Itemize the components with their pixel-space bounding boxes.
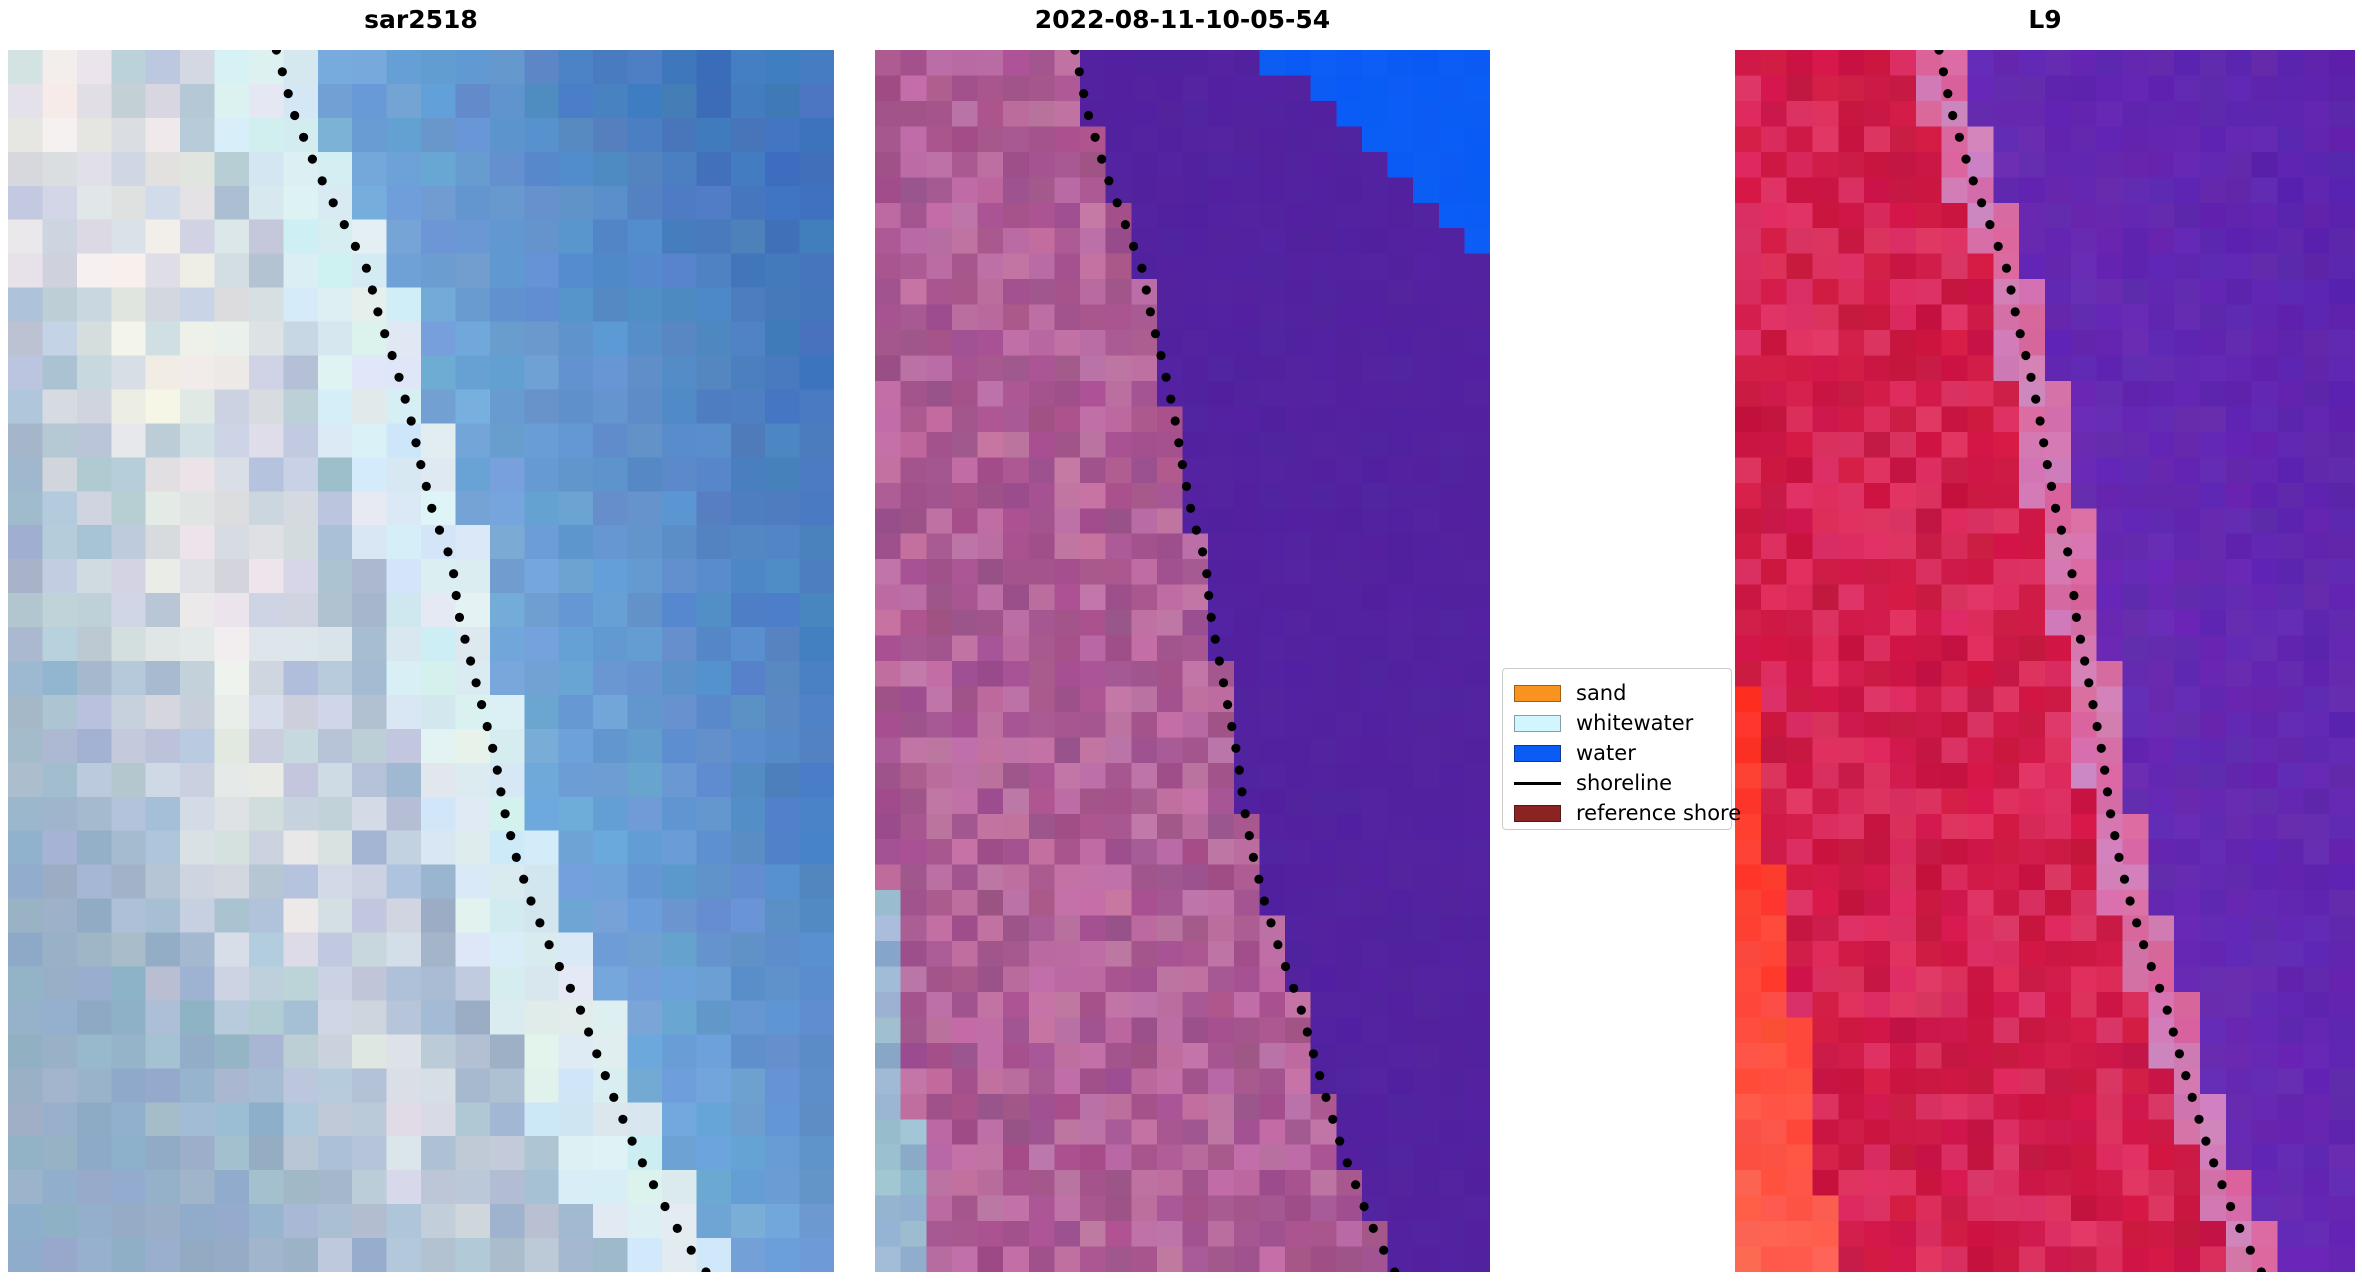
- whitewater-swatch: [1514, 715, 1561, 732]
- legend-label: water: [1576, 741, 1636, 765]
- sand-swatch: [1514, 685, 1561, 702]
- l9-raster-image: [1735, 50, 2355, 1272]
- panel-l9[interactable]: [1735, 50, 2355, 1272]
- reference-shore-swatch: [1514, 805, 1561, 822]
- legend-item-whitewater: whitewater: [1514, 708, 1721, 738]
- figure-canvas: sar2518 2022-08-11-10-05-54 L9 sandwhite…: [0, 0, 2362, 1283]
- panel-title-l9: L9: [1735, 0, 2355, 40]
- legend[interactable]: sandwhitewaterwatershorelinereference sh…: [1502, 668, 1732, 830]
- sar-raster-image: [8, 50, 834, 1272]
- legend-label: shoreline: [1576, 771, 1672, 795]
- legend-label: reference shore: [1576, 801, 1741, 825]
- water-swatch: [1514, 745, 1561, 762]
- legend-item-shoreline: shoreline: [1514, 768, 1721, 798]
- legend-label: sand: [1576, 681, 1626, 705]
- legend-item-reference-shore: reference shore: [1514, 798, 1721, 828]
- panel-title-sar: sar2518: [8, 0, 834, 40]
- panel-title-classified: 2022-08-11-10-05-54: [875, 0, 1490, 40]
- panel-classified[interactable]: [875, 50, 1490, 1272]
- panel-sar2518[interactable]: [8, 50, 834, 1272]
- legend-label: whitewater: [1576, 711, 1693, 735]
- legend-item-water: water: [1514, 738, 1721, 768]
- shoreline-line: [1514, 782, 1561, 785]
- legend-item-sand: sand: [1514, 678, 1721, 708]
- classified-raster-image: [875, 50, 1490, 1272]
